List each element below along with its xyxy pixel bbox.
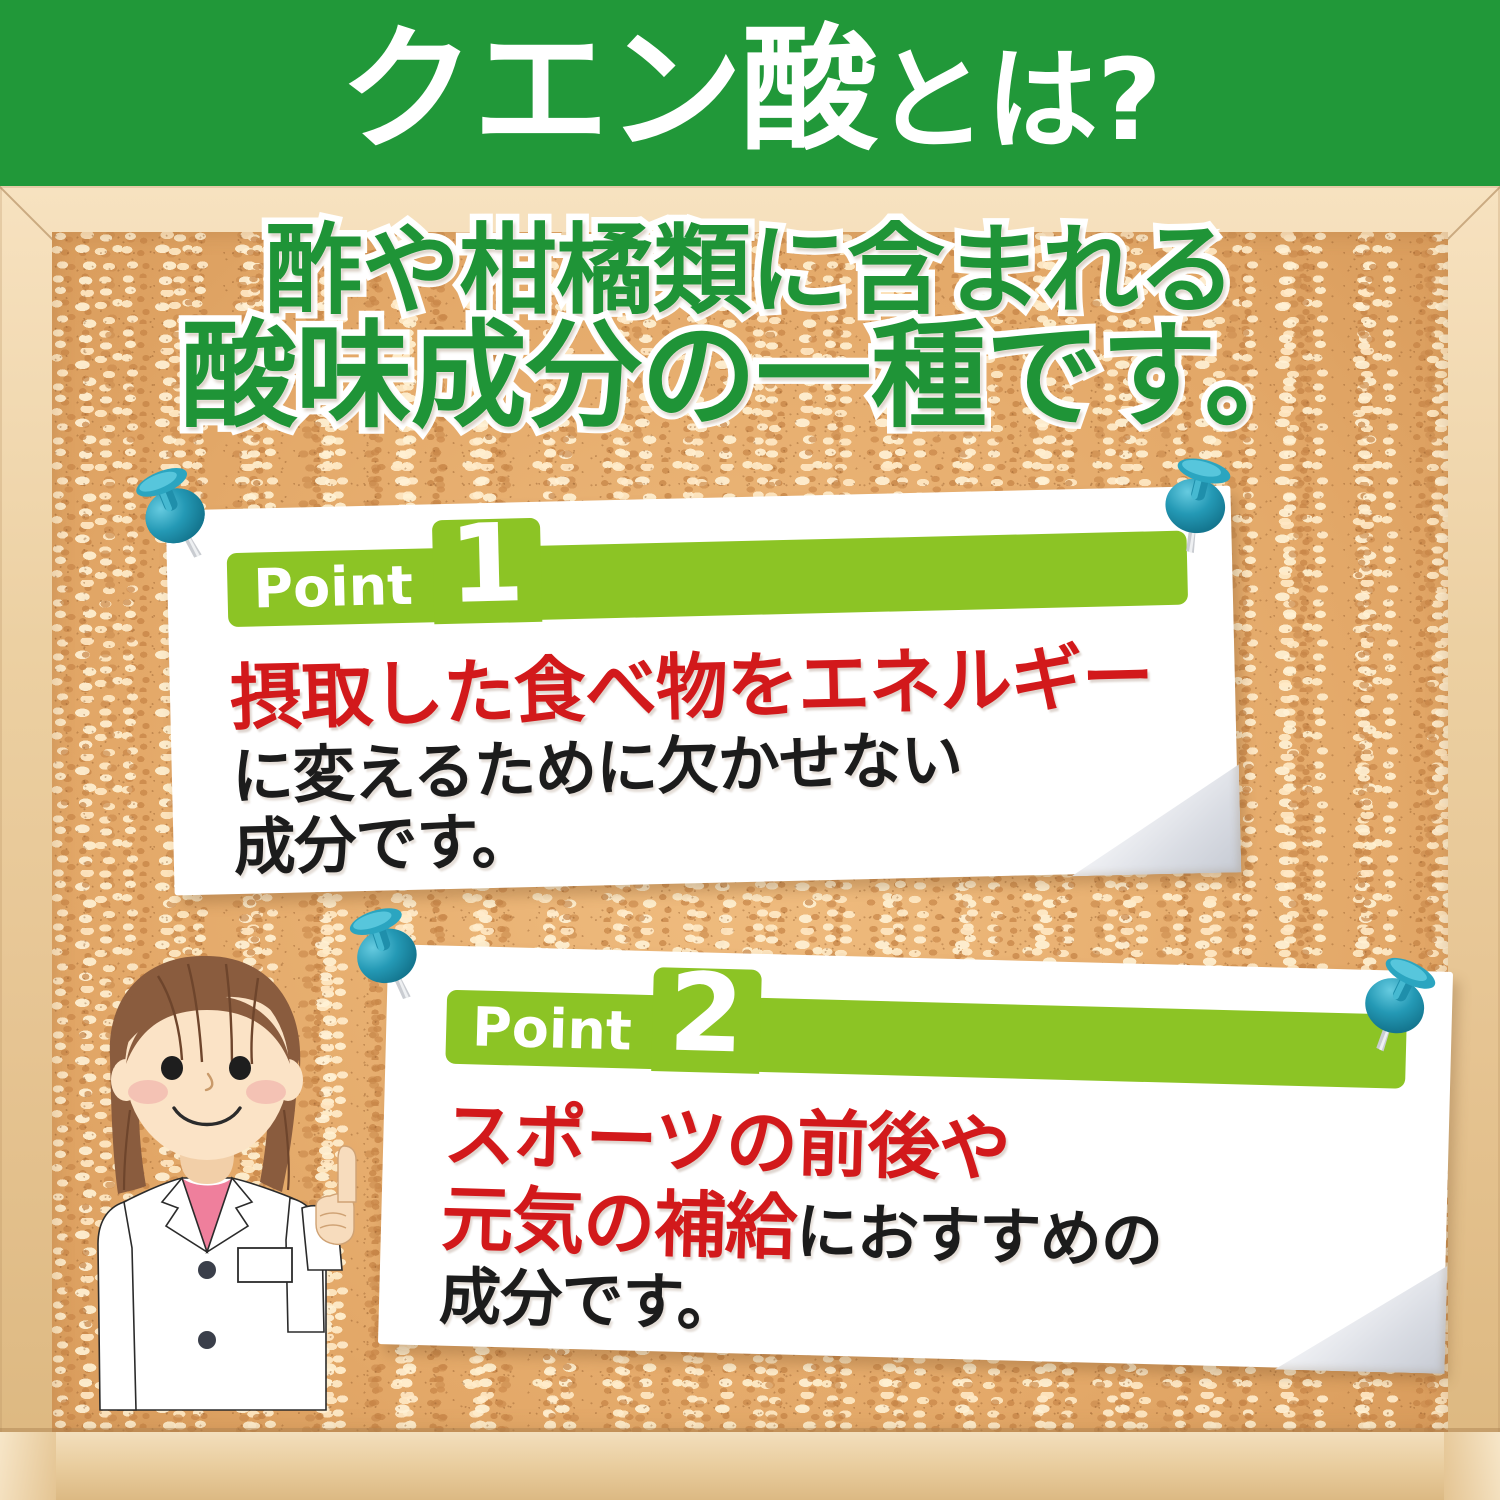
infographic-poster: クエン酸とは? 酢や柑橘類に含まれる 酸味成分の一種です。 Point 1 摂取… <box>0 0 1500 1500</box>
point-word-2: Point <box>472 1000 633 1058</box>
point-card-1[interactable]: Point 1 摂取した食べ物をエネルギー に変えるために欠かせない 成分です。 <box>166 486 1240 896</box>
point-card-1-content: Point 1 摂取した食べ物をエネルギー に変えるために欠かせない 成分です。 <box>166 486 1240 896</box>
point-2-red-line-2: 元気の補給 <box>440 1176 797 1269</box>
point-card-1-body: 摂取した食べ物をエネルギー に変えるために欠かせない 成分です。 <box>229 635 1193 885</box>
frame-bottom-right-miter <box>1444 1432 1500 1500</box>
frame-bottom-rail <box>0 1432 1500 1500</box>
page-title-main: クエン酸 <box>339 23 875 159</box>
subtitle-line-2: 酸味成分の一種です。 <box>0 318 1500 436</box>
pushpin-card1-left[interactable] <box>126 458 222 568</box>
page-title: クエン酸とは? <box>0 0 1500 190</box>
header-band: クエン酸とは? <box>0 0 1500 190</box>
point-label-bar-2: Point 2 <box>445 990 1407 1089</box>
page-title-suffix: とは? <box>875 45 1161 157</box>
point-card-2[interactable]: Point 2 スポーツの前後や 元気の補給におすすめの 成分です。 <box>378 944 1453 1372</box>
point-card-2-body: スポーツの前後や 元気の補給におすすめの 成分です。 <box>438 1094 1403 1358</box>
point-2-black-inline: におすすめの <box>795 1194 1163 1277</box>
point-card-2-content: Point 2 スポーツの前後や 元気の補給におすすめの 成分です。 <box>378 944 1453 1372</box>
nutritionist-illustration <box>62 940 392 1460</box>
frame-bottom-left-miter <box>0 1432 56 1500</box>
pushpin-card2-right[interactable] <box>1348 948 1444 1058</box>
point-number-1: 1 <box>448 510 526 620</box>
pushpin-card1-right[interactable] <box>1148 448 1244 558</box>
subtitle-line-1: 酢や柑橘類に含まれる <box>0 222 1500 322</box>
point-word-1: Point <box>253 559 414 617</box>
subtitle: 酢や柑橘類に含まれる 酸味成分の一種です。 <box>0 222 1500 436</box>
pushpin-card2-left[interactable] <box>338 898 434 1008</box>
point-label-bar-1: Point 1 <box>227 531 1188 628</box>
frame-bottom-edge-line <box>0 1428 1500 1432</box>
point-number-2: 2 <box>667 960 745 1070</box>
